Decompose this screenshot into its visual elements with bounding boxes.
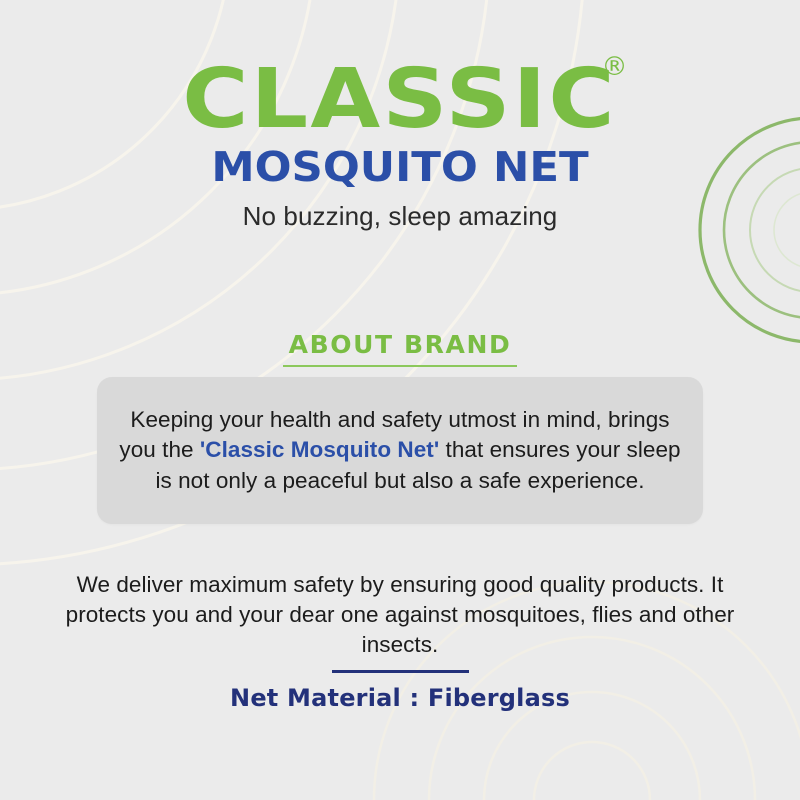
registered-trademark-icon: ® xyxy=(602,54,628,80)
brand-description-paragraph: We deliver maximum safety by ensuring go… xyxy=(60,570,740,660)
about-brand-panel: Keeping your health and safety utmost in… xyxy=(97,377,703,524)
about-brand-panel-text: Keeping your health and safety utmost in… xyxy=(97,405,703,496)
brand-tagline: No buzzing, sleep amazing xyxy=(0,202,800,231)
product-infographic: CLASSIC ® MOSQUITO NET No buzzing, sleep… xyxy=(0,0,800,800)
brand-lockup: CLASSIC ® MOSQUITO NET No buzzing, sleep… xyxy=(0,62,800,231)
material-divider xyxy=(332,670,469,673)
net-material-label: Net Material : Fiberglass xyxy=(0,684,800,713)
logo-wordmark: CLASSIC ® xyxy=(202,62,597,137)
about-brand-heading-group: ABOUT BRAND xyxy=(0,330,800,367)
about-panel-brand-name: 'Classic Mosquito Net' xyxy=(200,437,439,462)
logo-primary-word: CLASSIC xyxy=(183,62,618,137)
logo-subtitle: MOSQUITO NET xyxy=(0,147,800,189)
about-brand-heading: ABOUT BRAND xyxy=(289,330,512,363)
heading-underline xyxy=(283,365,517,367)
